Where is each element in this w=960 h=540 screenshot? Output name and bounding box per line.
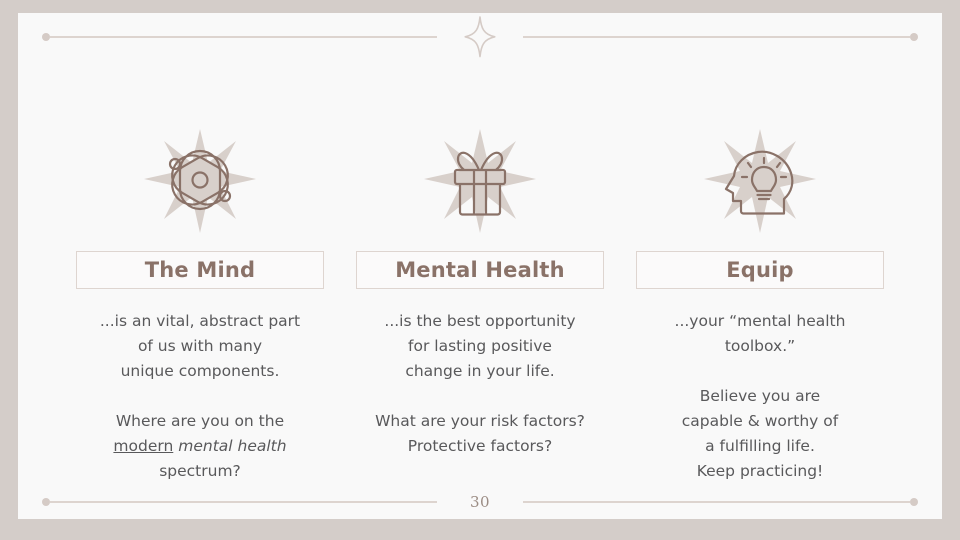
rule-end-dot-icon [42, 33, 50, 41]
text-run: What are your risk factors? [375, 412, 585, 430]
column-title: Mental Health [395, 260, 565, 281]
text-run: Believe you are [700, 387, 820, 405]
text-run: change in your life. [405, 362, 554, 380]
body-line: of us with many [76, 334, 324, 359]
column-equip: Equip ...your “mental healthtoolbox.”Bel… [636, 123, 884, 484]
column-body-the-mind: ...is an vital, abstract partof us with … [76, 309, 324, 484]
head-lightbulb-icon [700, 125, 820, 237]
body-paragraph: What are your risk factors?Protective fa… [356, 409, 604, 459]
column-title: Equip [726, 260, 794, 281]
column-the-mind: The Mind ...is an vital, abstract partof… [76, 123, 324, 484]
body-line: Where are you on the [76, 409, 324, 434]
text-run: capable & worthy of [682, 412, 838, 430]
column-icon-mental-health [415, 123, 545, 239]
body-line: What are your risk factors? [356, 409, 604, 434]
column-icon-equip [695, 123, 825, 239]
column-body-mental-health: ...is the best opportunityfor lasting po… [356, 309, 604, 459]
body-line: Protective factors? [356, 434, 604, 459]
column-title: The Mind [145, 260, 256, 281]
text-run: ...is an vital, abstract part [100, 312, 300, 330]
divider-line [523, 501, 910, 503]
gift-box-icon [420, 125, 540, 237]
divider-line [523, 36, 910, 38]
body-line: Keep practicing! [636, 459, 884, 484]
body-paragraph: Believe you arecapable & worthy ofa fulf… [636, 384, 884, 484]
text-run: Protective factors? [408, 437, 552, 455]
body-line: ...is the best opportunity [356, 309, 604, 334]
bottom-divider-center: 30 [437, 495, 523, 510]
text-run: Keep practicing! [697, 462, 824, 480]
underlined-text: modern [113, 437, 173, 455]
body-line: change in your life. [356, 359, 604, 384]
text-run: toolbox.” [725, 337, 795, 355]
body-line: unique components. [76, 359, 324, 384]
rule-end-dot-icon [42, 498, 50, 506]
text-run: spectrum? [159, 462, 241, 480]
bottom-divider: 30 [18, 492, 942, 512]
slide-page: The Mind ...is an vital, abstract partof… [18, 13, 942, 519]
sparkle-four-point-icon [463, 15, 497, 59]
text-run: ...is the best opportunity [384, 312, 575, 330]
text-run: of us with many [138, 337, 262, 355]
atom-icon [140, 125, 260, 237]
rule-end-dot-icon [910, 33, 918, 41]
page-number: 30 [470, 495, 490, 510]
column-title-box-the-mind: The Mind [76, 251, 324, 289]
column-body-equip: ...your “mental healthtoolbox.”Believe y… [636, 309, 884, 484]
body-line: ...your “mental health [636, 309, 884, 334]
text-run: unique components. [121, 362, 280, 380]
body-line: toolbox.” [636, 334, 884, 359]
text-run: Where are you on the [116, 412, 284, 430]
column-icon-the-mind [135, 123, 265, 239]
rule-end-dot-icon [910, 498, 918, 506]
text-run: a fulfilling life. [705, 437, 815, 455]
body-line: spectrum? [76, 459, 324, 484]
divider-line [50, 36, 437, 38]
bottom-divider-left [18, 498, 437, 506]
body-paragraph: ...is the best opportunityfor lasting po… [356, 309, 604, 384]
top-divider-left [18, 33, 437, 41]
content-columns: The Mind ...is an vital, abstract partof… [18, 123, 942, 484]
slide-frame: The Mind ...is an vital, abstract partof… [0, 0, 960, 540]
top-divider-center [437, 15, 523, 59]
body-line: a fulfilling life. [636, 434, 884, 459]
body-paragraph: Where are you on themodern mental health… [76, 409, 324, 484]
top-divider [18, 27, 942, 47]
body-line: ...is an vital, abstract part [76, 309, 324, 334]
body-paragraph: ...is an vital, abstract partof us with … [76, 309, 324, 384]
body-line: for lasting positive [356, 334, 604, 359]
body-line: capable & worthy of [636, 409, 884, 434]
column-mental-health: Mental Health ...is the best opportunity… [356, 123, 604, 484]
text-run: for lasting positive [408, 337, 552, 355]
body-line: Believe you are [636, 384, 884, 409]
top-divider-right [523, 33, 942, 41]
column-title-box-mental-health: Mental Health [356, 251, 604, 289]
italic-text: mental health [178, 437, 286, 455]
bottom-divider-right [523, 498, 942, 506]
text-run: ...your “mental health [675, 312, 846, 330]
column-title-box-equip: Equip [636, 251, 884, 289]
body-paragraph: ...your “mental healthtoolbox.” [636, 309, 884, 359]
divider-line [50, 501, 437, 503]
body-line: modern mental health [76, 434, 324, 459]
